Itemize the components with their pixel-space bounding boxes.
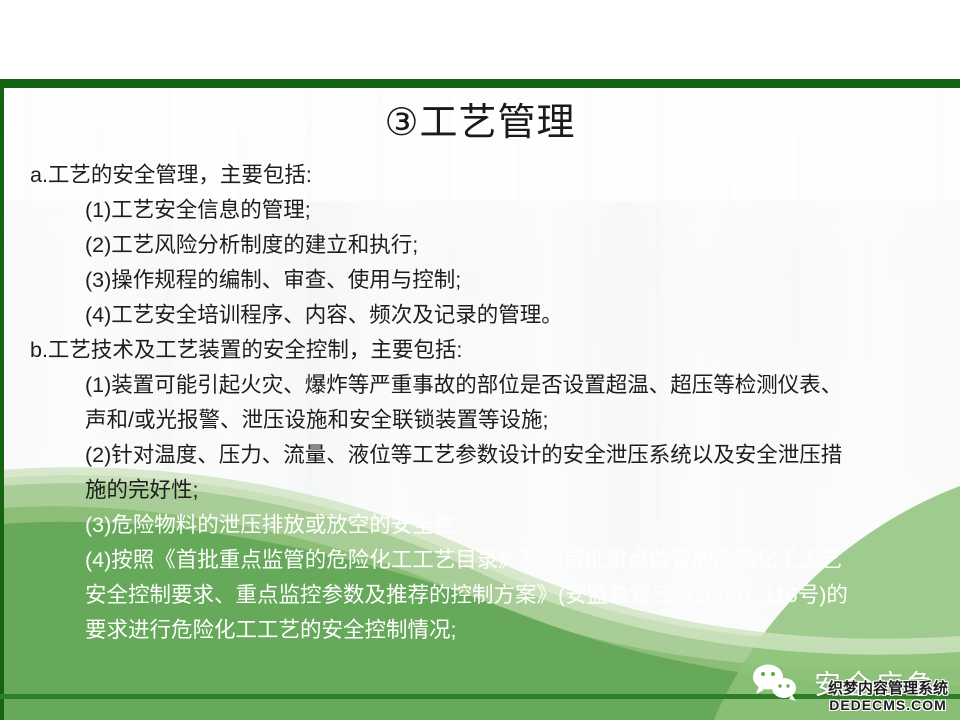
watermark-chinese: 织梦内容管理系统: [828, 681, 948, 696]
content-line: (4)工艺安全培训程序、内容、频次及记录的管理。: [30, 298, 950, 333]
content-line: 要求进行危险化工工艺的安全控制情况;: [30, 613, 950, 648]
watermark-english: DEDECMS.COM: [828, 698, 948, 712]
content-line: (2)针对温度、压力、流量、液位等工艺参数设计的安全泄压系统以及安全泄压措: [30, 438, 950, 473]
wechat-icon: [750, 662, 802, 702]
content-line: (3)危险物料的泄压排放或放空的安全性;: [30, 508, 950, 543]
content-line: 施的完好性;: [30, 473, 950, 508]
content-line: (1)工艺安全信息的管理;: [30, 193, 950, 228]
content-line: (3)操作规程的编制、审查、使用与控制;: [30, 263, 950, 298]
content-line: b.工艺技术及工艺装置的安全控制，主要包括:: [30, 333, 950, 368]
top-green-bar: [0, 79, 960, 88]
dedecms-watermark: 织梦内容管理系统 DEDECMS.COM: [828, 681, 948, 712]
presentation-slide: ③工艺管理 a.工艺的安全管理，主要包括: (1)工艺安全信息的管理; (2)工…: [0, 0, 960, 720]
content-line: 安全控制要求、重点监控参数及推荐的控制方案》(安监总管三〔2009〕116号)的: [30, 578, 950, 613]
left-green-bar: [0, 79, 4, 720]
content-line: a.工艺的安全管理，主要包括:: [30, 158, 950, 193]
content-line: (4)按照《首批重点监管的危险化工工艺目录》和《首批重点监管的危险化工工艺: [30, 543, 950, 578]
content-line: (2)工艺风险分析制度的建立和执行;: [30, 228, 950, 263]
content-line: (1)装置可能引起火灾、爆炸等严重事故的部位是否设置超温、超压等检测仪表、: [30, 368, 950, 403]
slide-title: ③工艺管理: [0, 101, 960, 145]
content-line: 声和/或光报警、泄压设施和安全联锁装置等设施;: [30, 403, 950, 438]
slide-body: a.工艺的安全管理，主要包括: (1)工艺安全信息的管理; (2)工艺风险分析制…: [30, 158, 950, 648]
